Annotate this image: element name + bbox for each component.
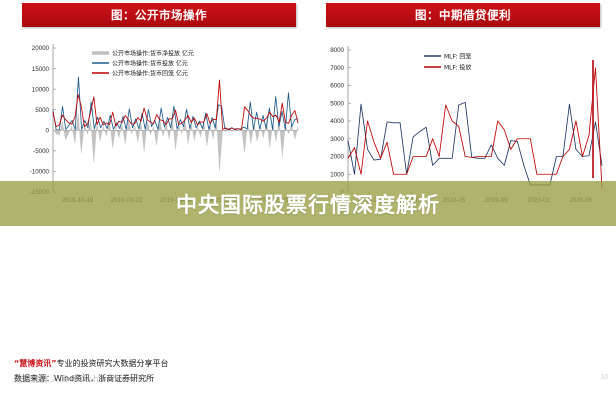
legend-label: 公开市场操作:货币回笼 亿元 (112, 69, 188, 77)
y-axis-tick-label: 3000 (330, 136, 344, 143)
report-page: 图：公开市场操作 20000150001000050000-5000-10000… (0, 0, 616, 400)
legend-label: 公开市场操作:货币净投放 亿元 (112, 49, 194, 57)
y-axis-tick-label: 7000 (330, 65, 344, 72)
y-axis-tick-label: 10000 (32, 86, 50, 93)
y-axis-tick-label: 1000 (330, 171, 344, 178)
footer-tagline: 专业的投资研究大数据分享平台 (57, 359, 169, 368)
y-axis-tick-label: 8000 (330, 47, 344, 54)
y-axis-tick-label: 5000 (35, 107, 49, 114)
footer-watermark: 无需注册 入口 www.hibor.com.cn (14, 373, 148, 385)
chart-title-left: 图：公开市场操作 (111, 7, 207, 23)
y-axis-tick-label: 5000 (330, 100, 344, 107)
y-axis-tick-label: -5000 (33, 148, 49, 155)
legend-label: MLF: 回笼 (444, 52, 471, 60)
brand-name: “慧博资讯” (14, 359, 57, 368)
y-axis-tick-label: 20000 (32, 45, 50, 52)
y-axis-tick-label: 15000 (32, 66, 50, 73)
chart-title-bar-left: 图：公开市场操作 (22, 3, 296, 27)
footer-tagline-line: “慧博资讯”专业的投资研究大数据分享平台 (14, 358, 169, 369)
vertical-red-rule (592, 60, 594, 178)
page-number: 10 (600, 374, 608, 381)
headline-text: 中央国际股票行情深度解析 (176, 189, 440, 219)
headline-overlay-band: 中央国际股票行情深度解析 (0, 181, 616, 226)
y-axis-tick-label: 6000 (330, 83, 344, 90)
legend-label: 公开市场操作:货币投放 亿元 (112, 59, 188, 67)
y-axis-tick-label: 2000 (330, 154, 344, 161)
y-axis-tick-label: 0 (46, 127, 50, 134)
series-line (53, 77, 298, 130)
y-axis-tick-label: 4000 (330, 118, 344, 125)
chart-title-right: 图：中期借贷便利 (415, 7, 511, 23)
chart-title-bar-right: 图：中期借贷便利 (326, 3, 600, 27)
page-footer: “慧博资讯”专业的投资研究大数据分享平台 数据来源：Wind资讯，浙商证券研究所… (0, 352, 616, 400)
y-axis-tick-label: -10000 (30, 169, 50, 176)
legend-label: MLF: 投放 (444, 63, 471, 71)
